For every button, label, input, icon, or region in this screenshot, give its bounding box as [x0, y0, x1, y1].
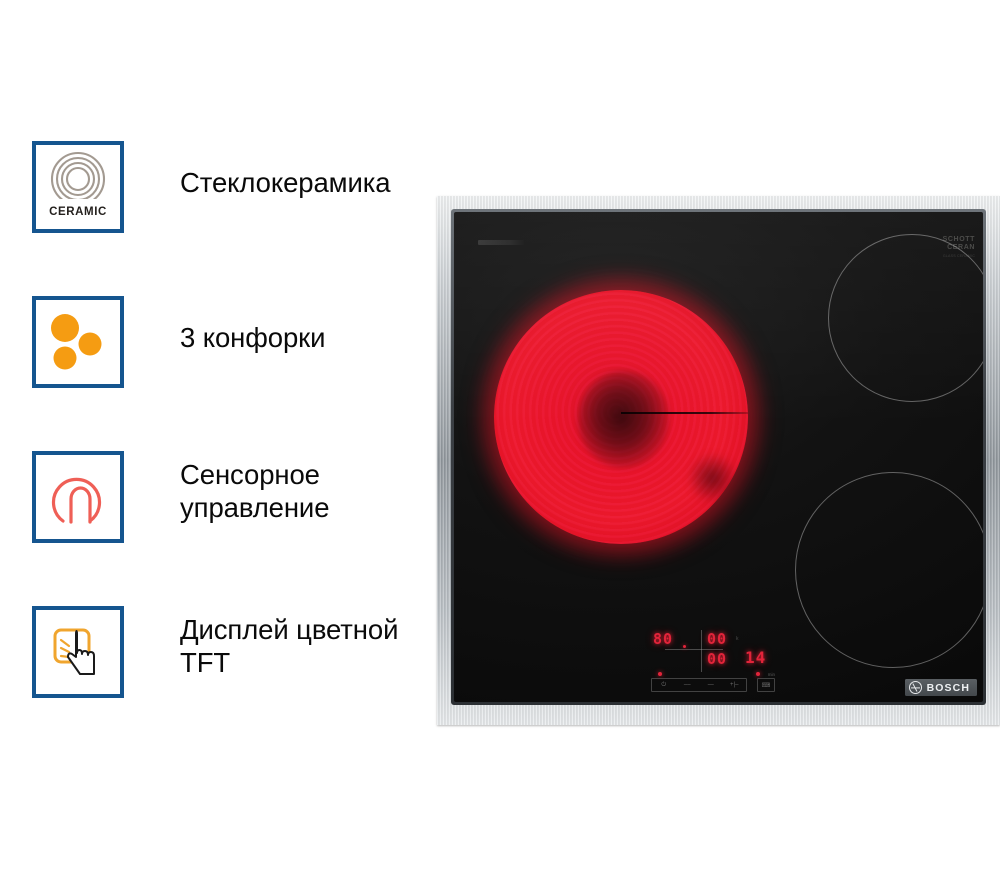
lock-indicator-led: [756, 672, 760, 676]
display-left-top: 80: [653, 632, 673, 647]
cooktop-product-image: SCHOTT CERAN GLASS CERAMIC: [437, 196, 1000, 725]
product-feature-page: CERAMIC Стеклокерамика 3 конфорки: [0, 0, 1000, 870]
burner-disc: [494, 290, 748, 544]
feature-label-ceramic: Стеклокерамика: [180, 141, 390, 199]
burner-shadow-patch: [687, 453, 738, 504]
slider-dash-icon[interactable]: ––: [676, 682, 700, 688]
feature-item-tft: Дисплей цветной TFT: [32, 606, 398, 698]
bosch-logo: BOSCH: [905, 679, 977, 696]
display-right-top: 00: [707, 632, 727, 647]
touch-control-icon: [36, 455, 120, 539]
bosch-armature-icon: [909, 681, 922, 694]
feature-label-burners: 3 конфорки: [180, 296, 325, 354]
child-lock-button[interactable]: ⌨: [757, 678, 775, 692]
slider-plusminus-icon[interactable]: +|–: [723, 682, 747, 688]
panel-divider-vertical: [701, 630, 702, 672]
three-burners-icon-box: [32, 296, 124, 388]
slider-power-icon[interactable]: ⏻: [652, 682, 676, 689]
feature-item-touch: Сенсорное управление: [32, 451, 329, 543]
touch-control-panel[interactable]: 80 00 00 14 k ⏻ –– — +|– min ⌨: [647, 628, 777, 694]
feature-list: CERAMIC Стеклокерамика 3 конфорки: [0, 0, 430, 870]
rear-right-burner-outline[interactable]: [828, 234, 983, 402]
three-burners-icon: [36, 300, 120, 384]
feature-label-tft: Дисплей цветной TFT: [180, 606, 398, 679]
lock-label: min: [768, 672, 775, 677]
feature-item-ceramic: CERAMIC Стеклокерамика: [32, 141, 390, 233]
bosch-wordmark: BOSCH: [927, 682, 970, 694]
power-indicator-led: [658, 672, 662, 676]
tft-display-icon-box: [32, 606, 124, 698]
display-timer: 14: [745, 650, 766, 666]
feature-label-touch: Сенсорное управление: [180, 451, 329, 524]
slider-line-icon[interactable]: —: [699, 682, 723, 688]
power-slider[interactable]: ⏻ –– — +|–: [651, 678, 747, 692]
burner-core: [578, 371, 669, 468]
ceramic-glass-icon: CERAMIC: [36, 145, 120, 229]
display-right-mid: 00: [707, 652, 727, 667]
tft-display-icon: [36, 610, 120, 694]
model-marking: [478, 240, 524, 245]
ceramic-icon-caption: CERAMIC: [49, 206, 107, 218]
ceramic-glass-surface: SCHOTT CERAN GLASS CERAMIC: [454, 212, 983, 702]
front-left-burner-glowing[interactable]: [494, 290, 748, 544]
touch-control-icon-box: [32, 451, 124, 543]
lock-icon: ⌨: [762, 682, 771, 689]
ceramic-glass-icon-box: CERAMIC: [32, 141, 124, 233]
burner-sensor-slit: [621, 412, 748, 414]
front-right-burner-outline[interactable]: [795, 472, 983, 668]
display-unit-mark: k: [736, 636, 739, 642]
feature-item-burners: 3 конфорки: [32, 296, 325, 388]
display-decimal-dot: [683, 645, 686, 648]
